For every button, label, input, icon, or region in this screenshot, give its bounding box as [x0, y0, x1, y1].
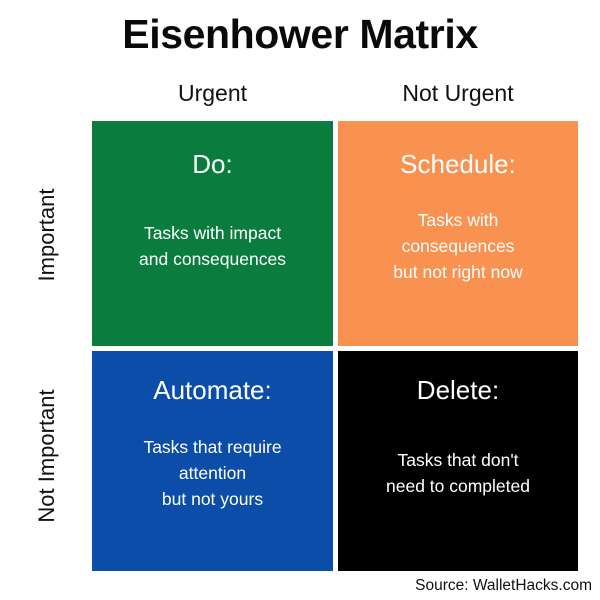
- quadrant-schedule-line-2: consequences: [348, 233, 568, 259]
- row-label-important: Important: [34, 120, 60, 350]
- quadrant-schedule-line-3: but not right now: [348, 259, 568, 285]
- quadrant-automate-line-2: attention: [102, 460, 323, 486]
- quadrant-do-line-2: and consequences: [102, 246, 323, 272]
- quadrant-automate-line-3: but not yours: [102, 486, 323, 512]
- quadrant-delete-line-2: need to completed: [348, 473, 568, 499]
- quadrant-automate: Automate: Tasks that require attention b…: [92, 351, 333, 571]
- quadrant-do-heading: Do:: [102, 147, 323, 181]
- quadrant-schedule-heading: Schedule:: [348, 147, 568, 181]
- quadrant-schedule: Schedule: Tasks with consequences but no…: [338, 121, 578, 346]
- quadrant-delete: Delete: Tasks that don't need to complet…: [338, 351, 578, 571]
- quadrant-delete-line-1: Tasks that don't: [348, 447, 568, 473]
- quadrant-delete-body: Tasks that don't need to completed: [348, 447, 568, 499]
- quadrant-automate-heading: Automate:: [102, 373, 323, 407]
- quadrant-schedule-body: Tasks with consequences but not right no…: [348, 207, 568, 285]
- quadrant-automate-line-1: Tasks that require: [102, 434, 323, 460]
- quadrant-do-body: Tasks with impact and consequences: [102, 220, 323, 272]
- column-header-not-urgent: Not Urgent: [338, 78, 578, 108]
- quadrant-do-line-1: Tasks with impact: [102, 220, 323, 246]
- quadrant-do: Do: Tasks with impact and consequences: [92, 121, 333, 346]
- page-title: Eisenhower Matrix: [0, 8, 600, 60]
- row-label-not-important: Not Important: [34, 341, 60, 571]
- quadrant-delete-heading: Delete:: [348, 373, 568, 407]
- source-attribution: Source: WalletHacks.com: [415, 576, 592, 596]
- quadrant-schedule-line-1: Tasks with: [348, 207, 568, 233]
- quadrant-automate-body: Tasks that require attention but not you…: [102, 434, 323, 512]
- eisenhower-matrix-diagram: Eisenhower Matrix Urgent Not Urgent Impo…: [0, 0, 600, 600]
- column-header-urgent: Urgent: [92, 78, 333, 108]
